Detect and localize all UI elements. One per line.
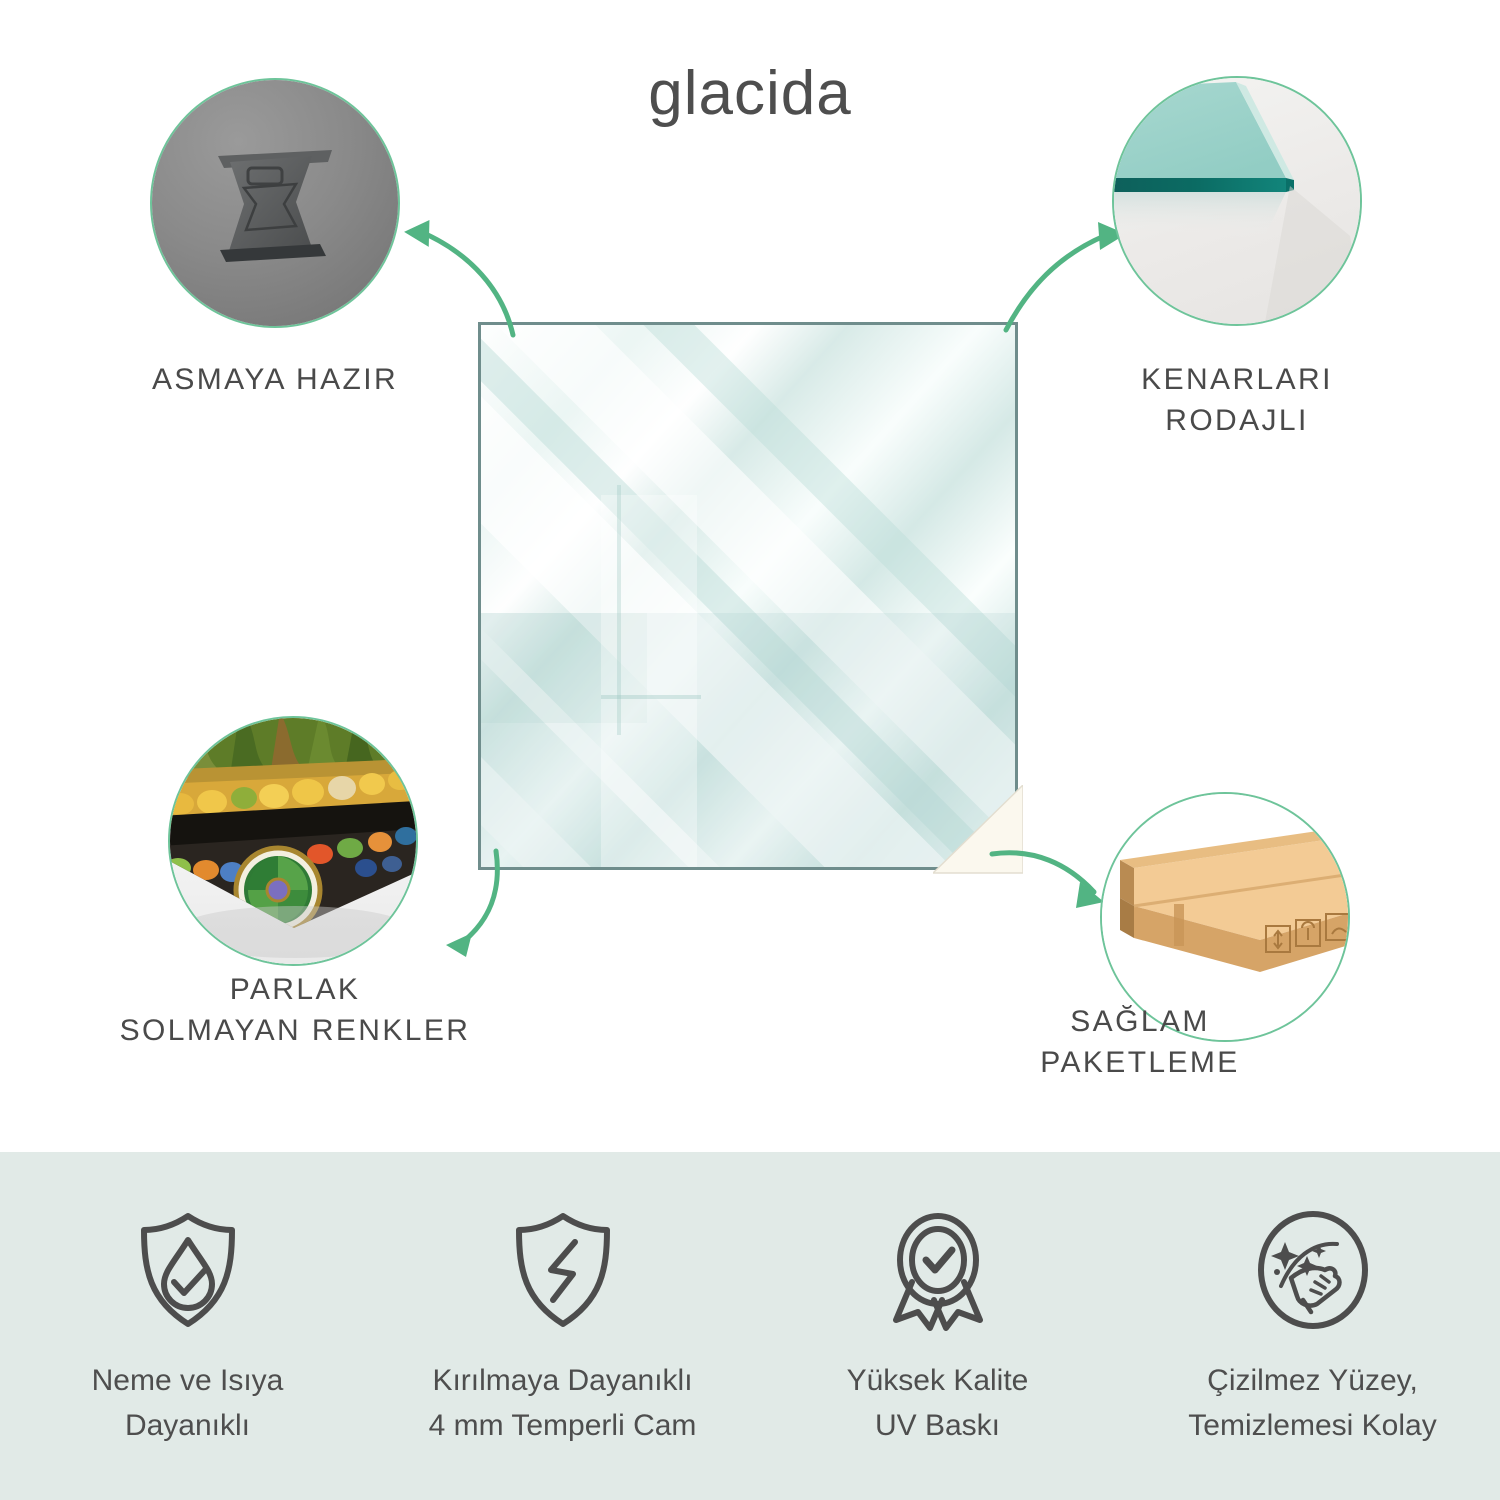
award-ribbon-check-icon [876,1206,1000,1334]
arrow-to-colors [430,845,550,975]
feature-circle-edge [1112,76,1362,326]
feature-label-colors: PARLAK SOLMAYAN RENKLER [60,970,530,1051]
wall-mount-bracket-photo [152,80,398,326]
glass-reflection-line [601,695,701,699]
stained-glass-artwork-photo [170,718,416,964]
sparkle-cleaning-hand-icon [1251,1206,1375,1334]
feature-text: Çizilmez Yüzey, Temizlemesi Kolay [1188,1358,1436,1448]
feature-circle-colors [168,716,418,966]
feature-break-resistant: Kırılmaya Dayanıklı 4 mm Temperli Cam [398,1206,728,1448]
feature-label-packaging: SAĞLAM PAKETLEME [930,1002,1350,1083]
glass-edge-illustration [1114,78,1362,326]
shield-waterdrop-check-icon [126,1206,250,1334]
feature-text: Kırılmaya Dayanıklı 4 mm Temperli Cam [429,1358,697,1448]
glass-reflection [601,495,697,870]
feature-label-hanger: ASMAYA HAZIR [0,360,550,401]
infographic-canvas: glacida [0,0,1500,1500]
bottom-feature-bar: Neme ve Isıya Dayanıklı Kırılmaya Dayanı… [0,1152,1500,1500]
feature-scratchproof-clean: Çizilmez Yüzey, Temizlemesi Kolay [1148,1206,1478,1448]
feature-label-edge: KENARLARI RODAJLI [997,360,1477,441]
stained-glass-illustration [170,718,418,966]
shield-lightning-icon [501,1206,625,1334]
feature-text: Yüksek Kalite UV Baskı [847,1358,1029,1448]
arrow-to-hanger [395,195,575,340]
wall-mount-bracket-icon [200,128,350,278]
glass-reflection-line [617,485,621,735]
feature-circle-hanger [150,78,400,328]
feature-high-quality-uv: Yüksek Kalite UV Baskı [773,1206,1103,1448]
feature-moisture-heat: Neme ve Isıya Dayanıklı [23,1206,353,1448]
feature-text: Neme ve Isıya Dayanıklı [92,1358,284,1448]
polished-glass-edge-photo [1114,78,1360,324]
